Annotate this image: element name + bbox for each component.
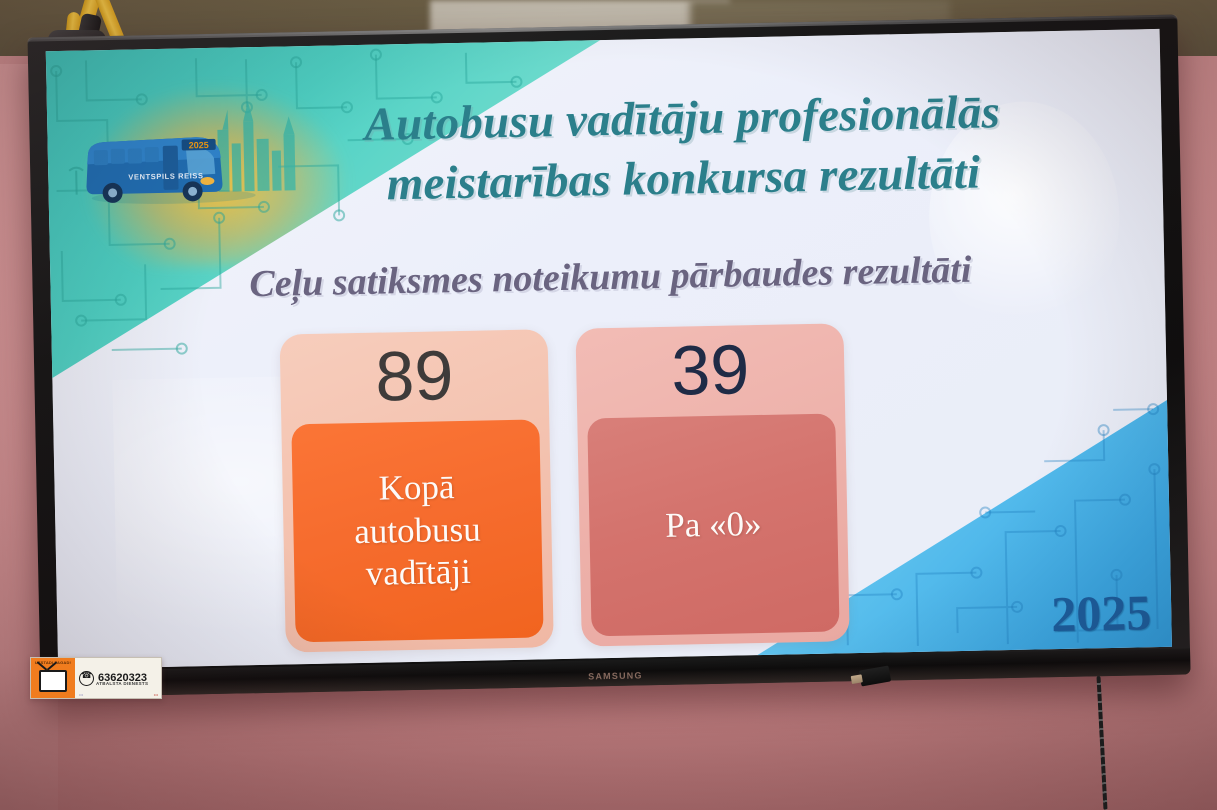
television: 2025 VENTSPILS REISS [27,15,1190,698]
stat-card-total: 89 Kopā autobusu vadītāji [280,329,554,652]
slide-title-line-1: Autobusu vadītāju profesionālās [364,86,1001,151]
stat-card-zero: 39 Pa «0» [575,323,849,646]
bus-company-name: VENTSPILS REISS [128,171,203,182]
stat-label-total-line-2: autobusu [354,509,481,551]
sticker-logo-right: ••• [154,692,158,697]
tv-icon [39,670,67,692]
stat-label-total: Kopā autobusu vadītāji [291,419,543,642]
presentation-slide: 2025 VENTSPILS REISS [46,29,1172,669]
stat-label-total-line-1: Kopā [378,467,455,508]
tv-bezel: 2025 VENTSPILS REISS [27,15,1190,698]
room-scene: 2025 VENTSPILS REISS [0,0,1217,810]
bus-destination-text: 2025 [189,140,209,150]
sticker-white-panel: 63620323 ATBALSTA DIENESTS ••• ••• [75,658,161,698]
sticker-logo-left: ••• [79,692,83,697]
stat-cards: 89 Kopā autobusu vadītāji 39 [280,323,886,655]
stat-value-total: 89 [280,337,549,416]
sticker-phone-caption: ATBALSTA DIENESTS [96,681,148,686]
stat-value-zero: 39 [576,331,845,410]
service-sticker: UZSTADI TAGAD! 63620323 ATBALSTA DIENEST… [30,657,162,699]
sticker-orange-panel: UZSTADI TAGAD! [31,658,75,698]
slide-title-line-2: meistarības konkursa rezultāti [248,140,1119,218]
wall-bottom-shadow [0,660,1217,810]
phone-icon [79,671,94,686]
stat-label-zero: Pa «0» [587,413,839,636]
tv-screen: 2025 VENTSPILS REISS [46,29,1172,669]
slide-year: 2025 [1051,583,1152,643]
stat-label-total-line-3: vadītāji [365,552,471,593]
slide-title: Autobusu vadītāju profesionālās meistarī… [247,80,1119,218]
stat-label-zero-line-1: Pa «0» [665,503,762,548]
sticker-footer-logos: ••• ••• [79,692,158,697]
